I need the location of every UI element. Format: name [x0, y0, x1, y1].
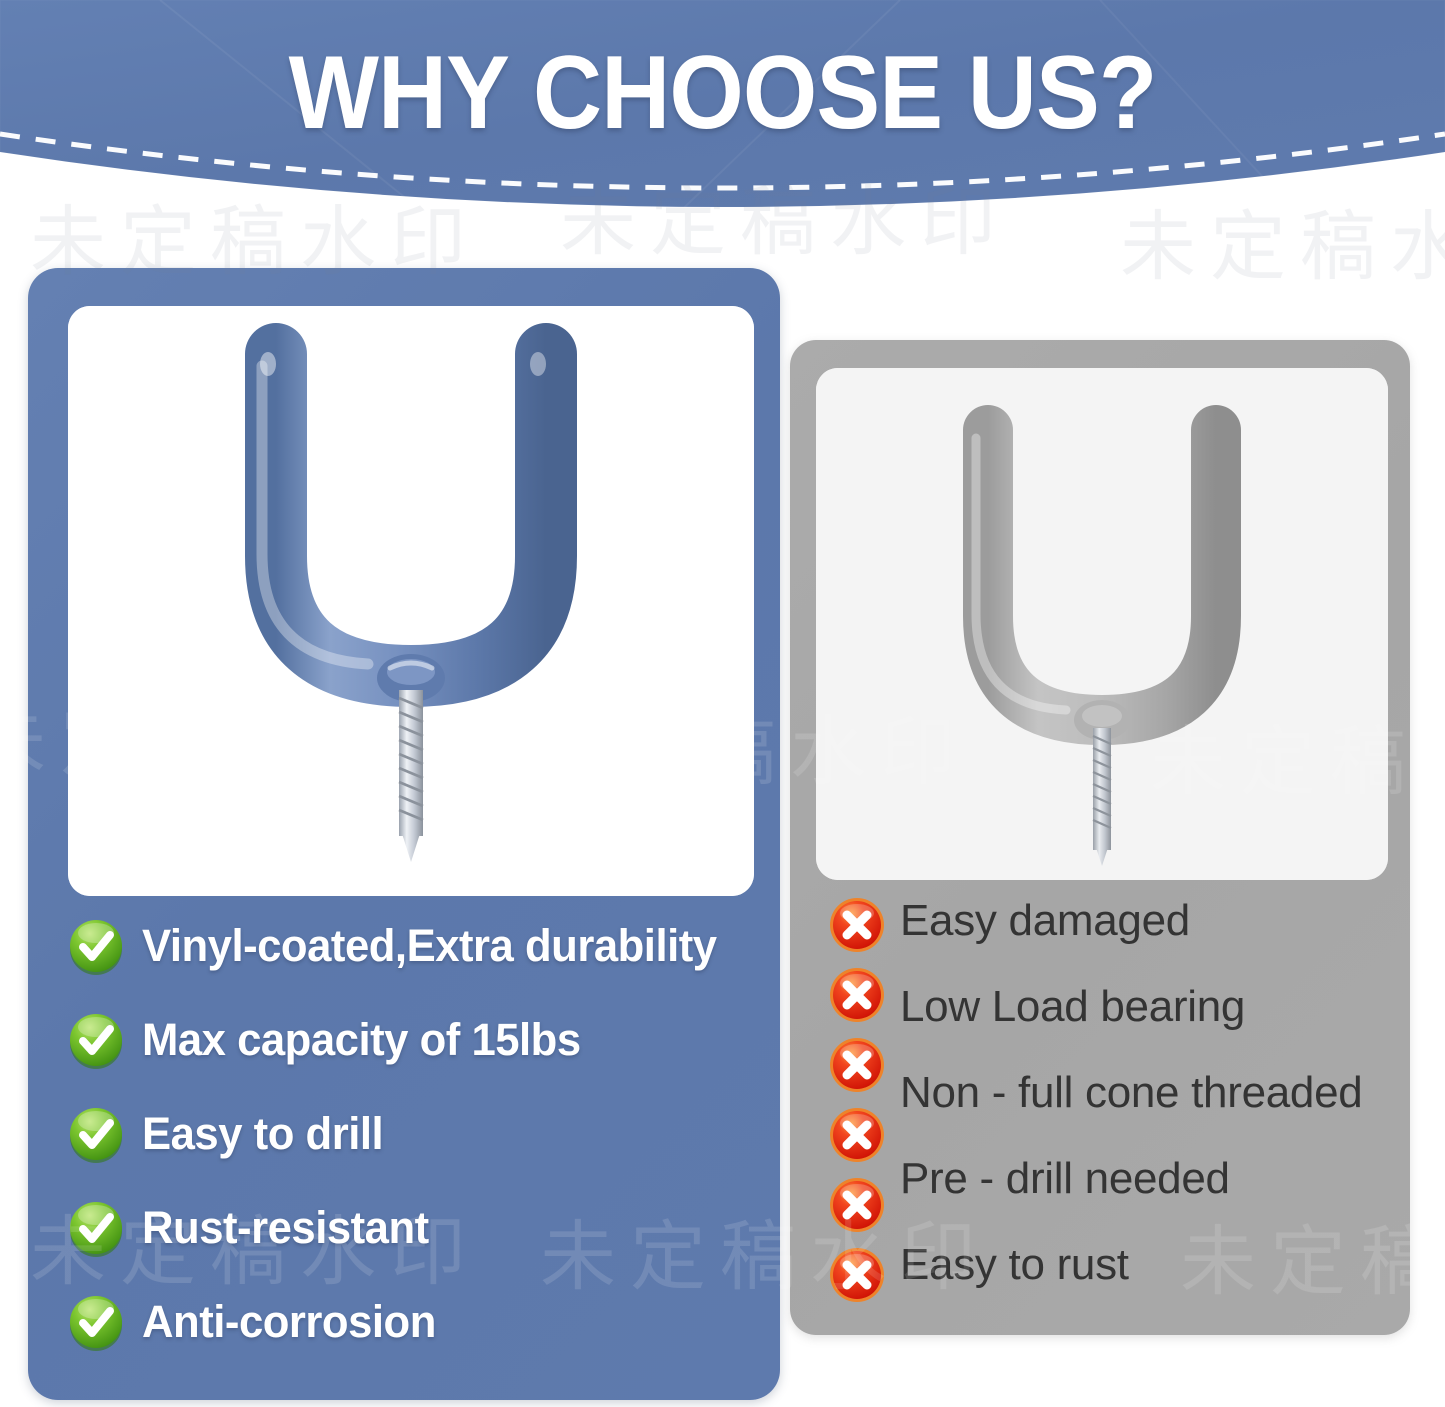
competitor-list-item: Easy damaged: [900, 896, 1190, 946]
our-list-item: Max capacity of 15lbs: [66, 1010, 594, 1070]
check-icon: [66, 916, 126, 976]
our-list-item-label: Max capacity of 15lbs: [142, 1014, 581, 1066]
our-list-item: Rust-resistant: [66, 1198, 438, 1258]
our-list-item: Vinyl-coated,Extra durability: [66, 916, 734, 976]
cross-icon: [828, 1106, 886, 1164]
grey-u-hook-illustration: [816, 368, 1388, 880]
our-list-item: Easy to drill: [66, 1104, 391, 1164]
competitor-product-photo: [816, 368, 1388, 880]
competitor-list-item: Pre - drill needed: [900, 1154, 1230, 1204]
cross-icon: [828, 1246, 886, 1304]
our-list-item: Anti-corrosion: [66, 1292, 445, 1352]
our-list-item-label: Anti-corrosion: [142, 1296, 436, 1348]
our-list-item-label: Easy to drill: [142, 1108, 383, 1160]
cross-icon: [828, 1036, 886, 1094]
check-icon: [66, 1010, 126, 1070]
cross-icon: [828, 896, 886, 954]
page-title: WHY CHOOSE US?: [58, 38, 1387, 148]
competitor-list-item: Low Load bearing: [900, 982, 1245, 1032]
check-icon: [66, 1292, 126, 1352]
cross-icon: [828, 1176, 886, 1234]
comparison-panel-competitor: Easy damaged Low Load bearing Non - full…: [790, 340, 1410, 1335]
cross-icon: [828, 966, 886, 1024]
competitor-list-item: Non - full cone threaded: [900, 1068, 1362, 1118]
check-icon: [66, 1104, 126, 1164]
our-list-item-label: Vinyl-coated,Extra durability: [142, 920, 717, 972]
our-list-item-label: Rust-resistant: [142, 1202, 429, 1254]
blue-u-hook-illustration: [68, 306, 754, 896]
comparison-panel-ours: Vinyl-coated,Extra durability Max capaci…: [28, 268, 780, 1400]
check-icon: [66, 1198, 126, 1258]
competitor-list-item: Easy to rust: [900, 1240, 1129, 1290]
our-product-photo: [68, 306, 754, 896]
header-band: WHY CHOOSE US?: [0, 0, 1445, 250]
